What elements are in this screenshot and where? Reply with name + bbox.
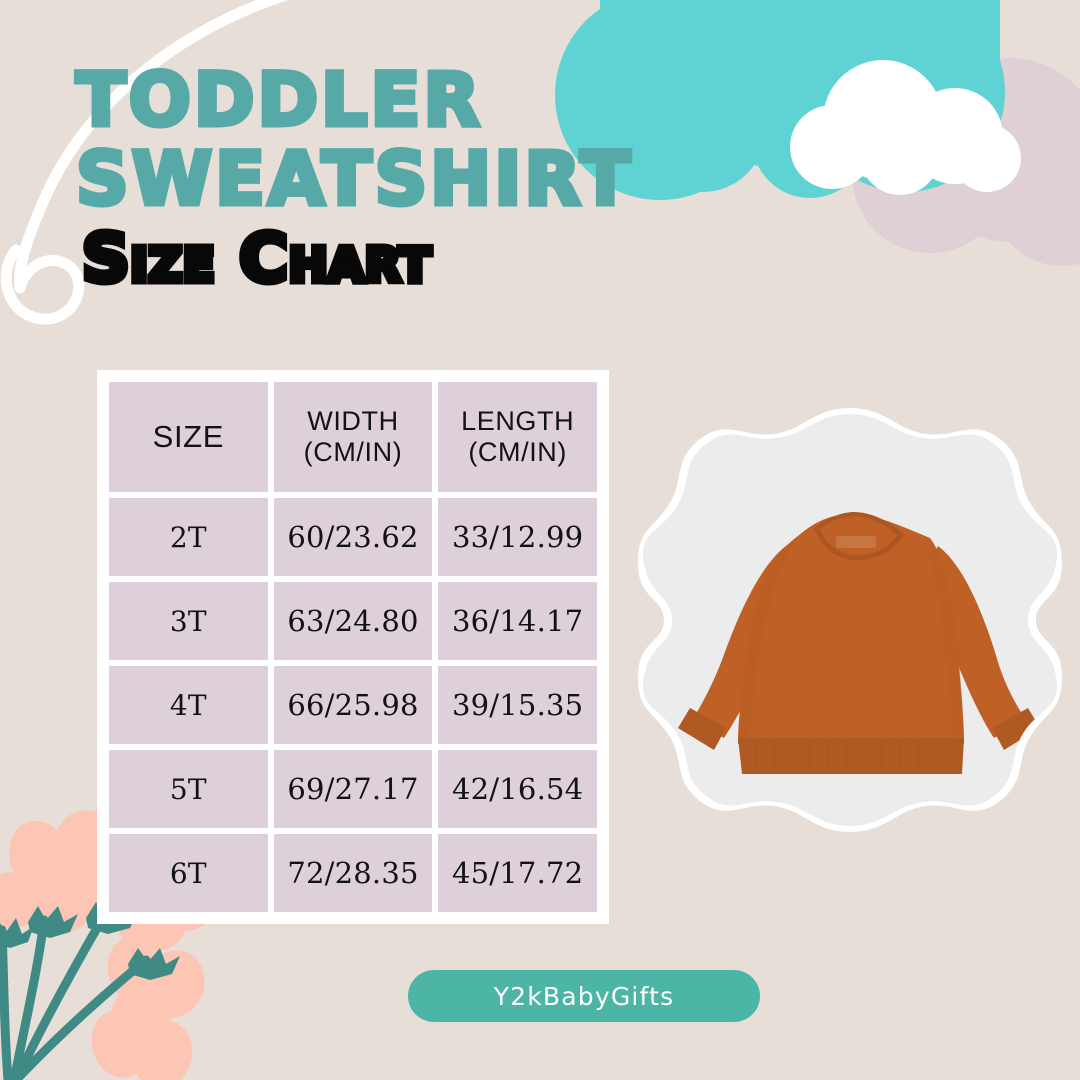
column-header-width-label: WIDTH (307, 406, 398, 436)
cell-length: 33/12.99 (438, 498, 597, 576)
column-header-size-label: SIZE (153, 419, 224, 454)
brand-badge-label: Y2kBabyGifts (494, 982, 675, 1011)
cell-size: 4T (109, 666, 268, 744)
cell-length: 45/17.72 (438, 834, 597, 912)
column-header-size: SIZE (109, 382, 268, 492)
page-title-line-2: Sweatshirt (76, 145, 776, 216)
table-header-row: SIZE WIDTH (CM/IN) LENGTH (CM/IN) (109, 382, 597, 492)
photo-content (638, 408, 1062, 832)
header-block: Toddler Sweatshirt Size Chart (76, 66, 776, 292)
cell-length: 42/16.54 (438, 750, 597, 828)
column-header-length-units: (CM/IN) (438, 437, 597, 468)
table-row: 5T 69/27.17 42/16.54 (109, 750, 597, 828)
column-header-width-units: (CM/IN) (274, 437, 433, 468)
table-row: 6T 72/28.35 45/17.72 (109, 834, 597, 912)
swirl-loop-icon (6, 250, 79, 319)
brand-badge[interactable]: Y2kBabyGifts (408, 970, 760, 1022)
cloud-mauve-icon (852, 58, 1080, 266)
cell-width: 72/28.35 (274, 834, 433, 912)
cell-size: 3T (109, 582, 268, 660)
column-header-length: LENGTH (CM/IN) (438, 382, 597, 492)
cloud-white-icon (790, 60, 1021, 195)
size-chart-canvas: Toddler Sweatshirt Size Chart SIZE WIDTH… (0, 0, 1080, 1080)
flower-bloom (101, 930, 214, 1038)
cell-size: 2T (109, 498, 268, 576)
cell-size: 5T (109, 750, 268, 828)
table-row: 2T 60/23.62 33/12.99 (109, 498, 597, 576)
page-subtitle: Size Chart (82, 226, 776, 292)
table-row: 3T 63/24.80 36/14.17 (109, 582, 597, 660)
column-header-width: WIDTH (CM/IN) (274, 382, 433, 492)
cell-length: 36/14.17 (438, 582, 597, 660)
table-row: 4T 66/25.98 39/15.35 (109, 666, 597, 744)
size-chart-table: SIZE WIDTH (CM/IN) LENGTH (CM/IN) 2T 60/… (103, 376, 603, 918)
product-photo-svg (638, 408, 1062, 832)
cell-size: 6T (109, 834, 268, 912)
cell-width: 63/24.80 (274, 582, 433, 660)
size-chart-table-container: SIZE WIDTH (CM/IN) LENGTH (CM/IN) 2T 60/… (97, 370, 609, 924)
cell-length: 39/15.35 (438, 666, 597, 744)
product-photo (638, 408, 1062, 832)
cell-width: 66/25.98 (274, 666, 433, 744)
flower-bloom (84, 1004, 201, 1080)
cell-width: 69/27.17 (274, 750, 433, 828)
cell-width: 60/23.62 (274, 498, 433, 576)
column-header-length-label: LENGTH (461, 406, 574, 436)
flower-stems-group (2, 916, 146, 1080)
page-title-line-1: Toddler (76, 66, 776, 137)
